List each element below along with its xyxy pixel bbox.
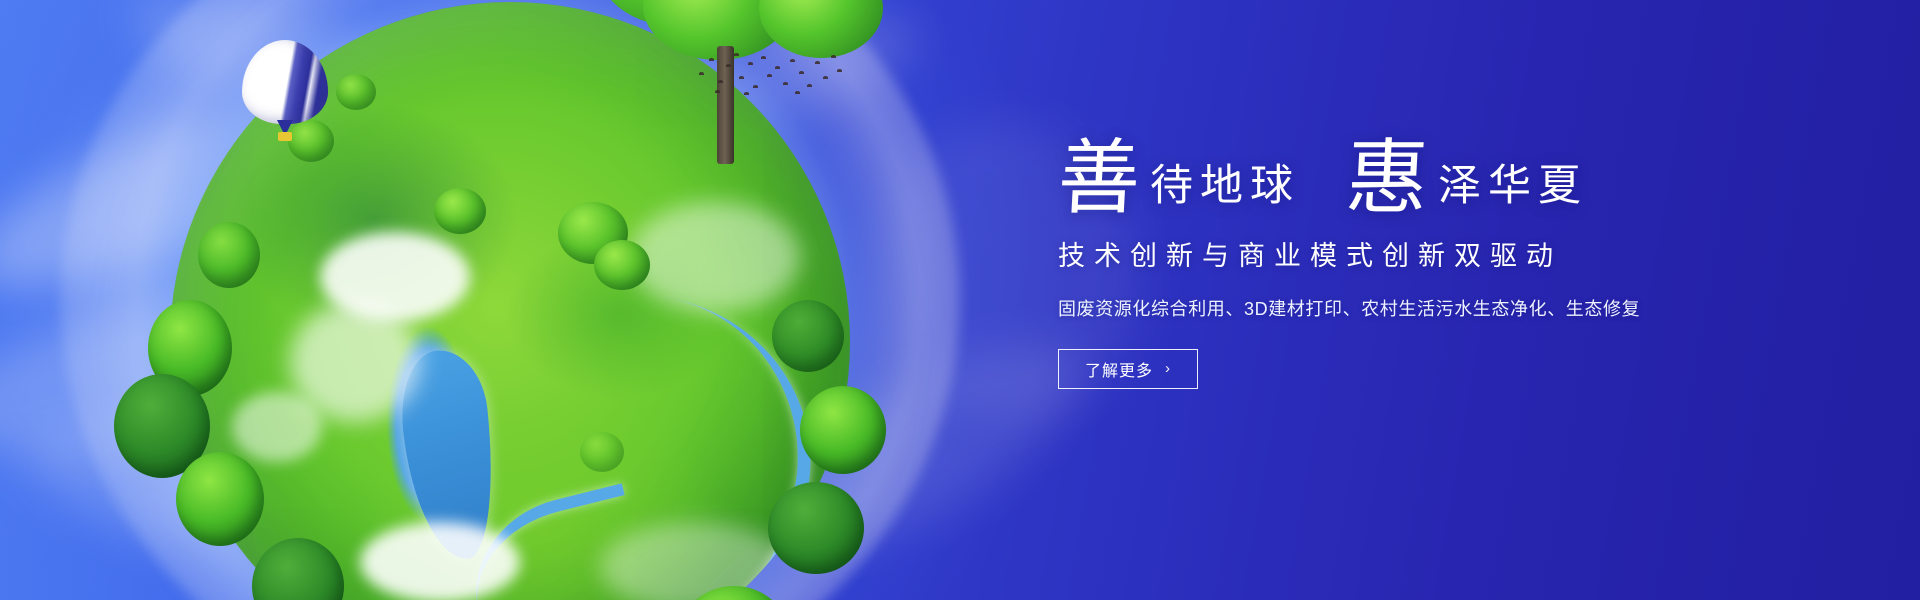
bird-icon <box>815 61 820 64</box>
globe-bush <box>580 432 624 472</box>
bird-icon <box>744 92 749 95</box>
bird-icon <box>790 59 795 62</box>
bird-icon <box>753 85 758 88</box>
bird-icon <box>807 84 812 87</box>
bird-icon <box>726 64 731 67</box>
bird-icon <box>799 71 804 74</box>
bird-icon <box>775 66 780 69</box>
hero-banner: 善 待地球 惠 泽华夏 技术创新与商业模式创新双驱动 固废资源化综合利用、3D建… <box>0 0 1920 600</box>
rim-tree <box>800 386 886 474</box>
bird-icon <box>709 58 714 61</box>
learn-more-label: 了解更多 <box>1085 357 1153 381</box>
rim-tree <box>768 482 864 574</box>
bird-flock <box>695 50 845 96</box>
headline-part1-small: 待地球 <box>1140 165 1300 218</box>
headline-part2-big: 惠 <box>1344 140 1430 218</box>
banner-subtitle: 技术创新与商业模式创新双驱动 <box>1058 234 1818 273</box>
page-title: 善 待地球 惠 泽华夏 <box>1058 140 1818 218</box>
globe-cloud <box>232 392 322 462</box>
bird-icon <box>823 76 828 79</box>
globe-bush <box>434 188 486 234</box>
globe-cloud <box>630 202 800 312</box>
bird-icon <box>734 53 739 56</box>
globe-cloud <box>360 522 520 600</box>
bird-icon <box>748 62 753 65</box>
rim-tree <box>772 300 844 372</box>
bird-icon <box>715 90 720 93</box>
bird-icon <box>783 82 788 85</box>
globe-bush <box>336 74 376 110</box>
headline-part2-small: 泽华夏 <box>1428 165 1588 218</box>
bird-icon <box>718 80 723 83</box>
bird-icon <box>837 69 842 72</box>
bird-icon <box>831 55 836 58</box>
bird-icon <box>767 74 772 77</box>
bird-icon <box>739 76 744 79</box>
rim-tree <box>176 452 264 546</box>
banner-content: 善 待地球 惠 泽华夏 技术创新与商业模式创新双驱动 固废资源化综合利用、3D建… <box>1058 140 1818 389</box>
balloon-neck <box>277 120 293 132</box>
chevron-right-icon: › <box>1165 361 1171 376</box>
bird-icon <box>761 56 766 59</box>
bird-icon <box>699 72 704 75</box>
bird-icon <box>795 91 800 94</box>
balloon-basket <box>278 132 292 141</box>
banner-description: 固废资源化综合利用、3D建材打印、农村生活污水生态净化、生态修复 <box>1058 295 1818 321</box>
hot-air-balloon <box>242 40 328 140</box>
balloon-envelope <box>242 40 328 124</box>
globe-bush <box>594 240 650 290</box>
headline-part1-big: 善 <box>1056 140 1142 218</box>
learn-more-button[interactable]: 了解更多 › <box>1058 349 1198 389</box>
rim-tree <box>198 222 260 288</box>
